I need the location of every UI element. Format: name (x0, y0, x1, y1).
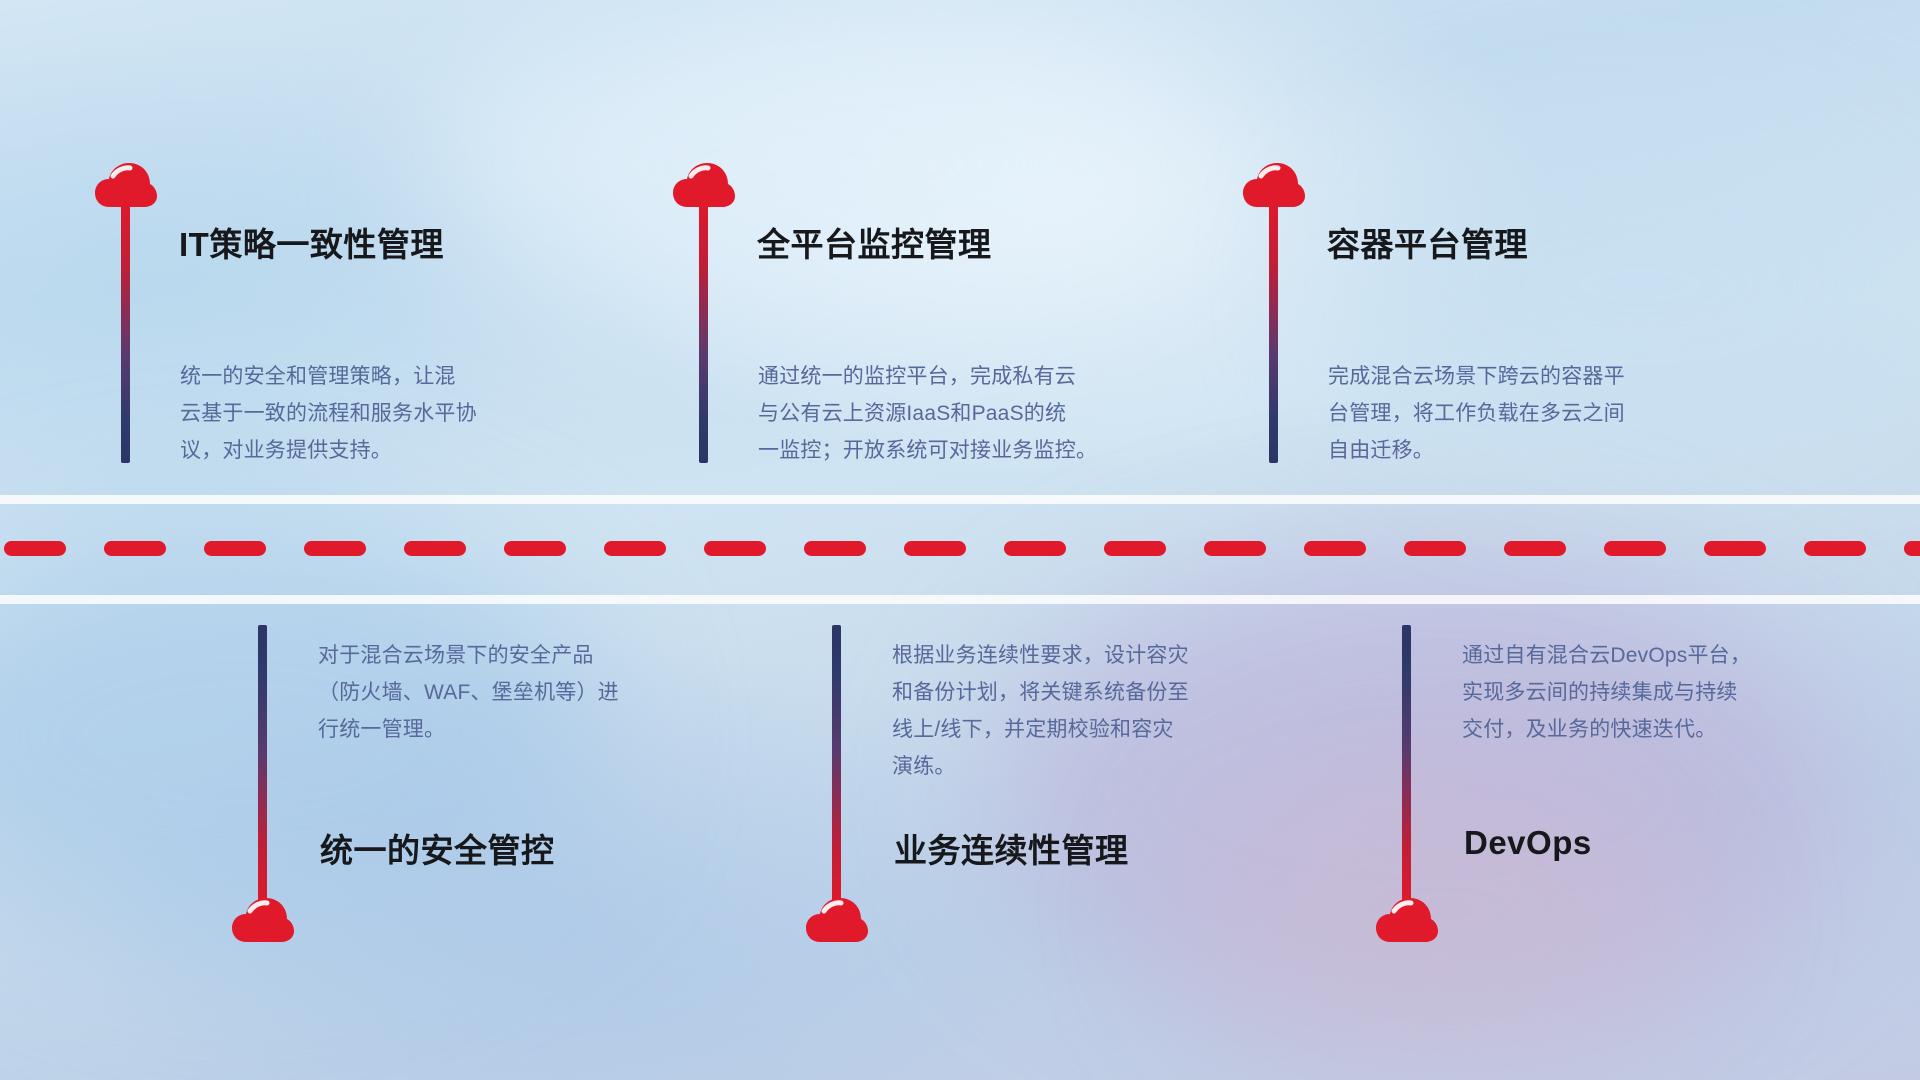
road-dash (104, 541, 166, 556)
road-dash (1804, 541, 1866, 556)
road-dash (1304, 541, 1366, 556)
marker-stem (258, 625, 267, 907)
marker-description: 完成混合云场景下跨云的容器平 台管理，将工作负载在多云之间 自由迁移。 (1328, 358, 1768, 469)
marker-heading: IT策略一致性管理 (179, 218, 444, 266)
road-dash (1504, 541, 1566, 556)
infographic-canvas: IT策略一致性管理 统一的安全和管理策略，让混 云基于一致的流程和服务水平协 议… (0, 0, 1920, 1080)
road-dash (304, 541, 366, 556)
road-band-top (0, 495, 1920, 504)
marker-description: 通过统一的监控平台，完成私有云 与公有云上资源IaaS和PaaS的统 一监控；开… (758, 358, 1218, 469)
road-dash-row (0, 540, 1920, 556)
road-dash (804, 541, 866, 556)
marker-stem (1269, 203, 1278, 463)
marker-stem (832, 625, 841, 907)
road-dash (1404, 541, 1466, 556)
road-dash (1204, 541, 1266, 556)
marker-stem (1402, 625, 1411, 907)
road-dash (204, 541, 266, 556)
marker-description: 通过自有混合云DevOps平台， 实现多云间的持续集成与持续 交付，及业务的快速… (1462, 637, 1892, 748)
marker-description: 统一的安全和管理策略，让混 云基于一致的流程和服务水平协 议，对业务提供支持。 (180, 358, 620, 469)
road-dash (904, 541, 966, 556)
background-blob (1180, 760, 1700, 1060)
road-dash (504, 541, 566, 556)
road-dash (1904, 541, 1920, 556)
cloud-icon (232, 898, 294, 944)
marker-description: 根据业务连续性要求，设计容灾 和备份计划，将关键系统备份至 线上/线下，并定期校… (892, 637, 1332, 785)
road-dash (1004, 541, 1066, 556)
road-dash (1104, 541, 1166, 556)
road-dash (704, 541, 766, 556)
road-dash (4, 541, 66, 556)
cloud-icon (1376, 898, 1438, 944)
marker-heading: 全平台监控管理 (757, 218, 992, 266)
background-blob (430, 0, 1210, 330)
marker-stem (699, 203, 708, 463)
road-dash (1604, 541, 1666, 556)
road-dash (604, 541, 666, 556)
marker-description: 对于混合云场景下的安全产品 （防火墙、WAF、堡垒机等）进 行统一管理。 (318, 637, 748, 748)
marker-heading: 业务连续性管理 (894, 824, 1129, 872)
marker-heading: 容器平台管理 (1327, 218, 1528, 266)
cloud-icon (806, 898, 868, 944)
road-dash (1704, 541, 1766, 556)
marker-heading: DevOps (1464, 824, 1592, 862)
road-dash (404, 541, 466, 556)
marker-heading: 统一的安全管控 (320, 824, 555, 872)
road-band-bottom (0, 595, 1920, 604)
marker-stem (121, 203, 130, 463)
